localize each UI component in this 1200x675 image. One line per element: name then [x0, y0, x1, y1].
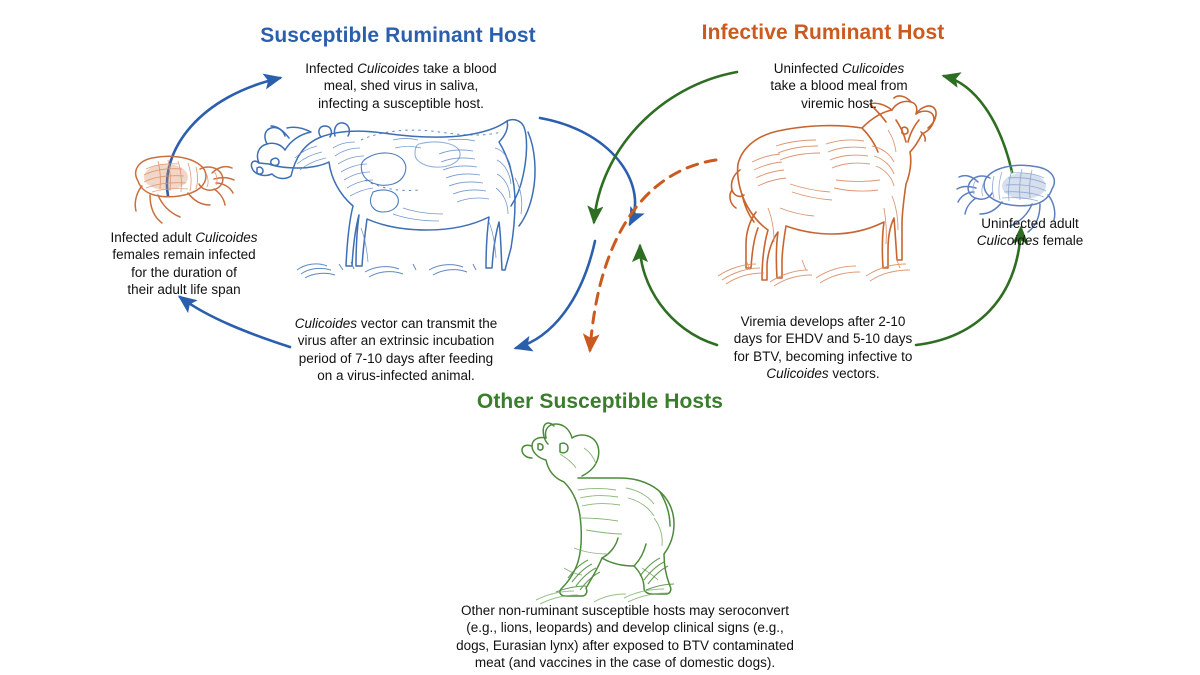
arrow-cow-to-center-down: [540, 118, 635, 224]
midge-left-illustration: [135, 156, 234, 223]
title-other-susceptible-hosts: Other Susceptible Hosts: [450, 390, 750, 414]
deer-illustration: [718, 96, 936, 286]
dog-illustration: [522, 423, 674, 604]
arrow-center-up-to-deer: [640, 246, 717, 345]
cow-illustration: [251, 120, 535, 278]
label-extrinsic-incubation: Culicoides vector can transmit thevirus …: [285, 315, 507, 384]
diagram-canvas: [0, 0, 1200, 675]
label-other-hosts-note: Other non-ruminant susceptible hosts may…: [444, 602, 806, 671]
label-uninfected-adult-culicoides: Uninfected adultCulicoides female: [955, 215, 1105, 250]
arrow-deer-to-other-hosts-dashed: [590, 160, 716, 350]
arrow-cow-to-midge: [516, 241, 595, 348]
arrow-deer-to-center-down: [594, 72, 737, 222]
arrow-center-to-left: [180, 297, 290, 347]
label-uninfected-bite: Uninfected Culicoidestake a blood meal f…: [746, 60, 932, 112]
title-infective-ruminant-host: Infective Ruminant Host: [680, 21, 966, 45]
arrow-midge-to-deer: [944, 76, 1012, 172]
title-susceptible-ruminant-host: Susceptible Ruminant Host: [248, 24, 548, 48]
label-viremia: Viremia develops after 2-10days for EHDV…: [718, 313, 928, 382]
label-infected-adult-culicoides: Infected adult Culicoidesfemales remain …: [94, 229, 274, 298]
label-infected-bite: Infected Culicoides take a bloodmeal, sh…: [273, 60, 529, 112]
